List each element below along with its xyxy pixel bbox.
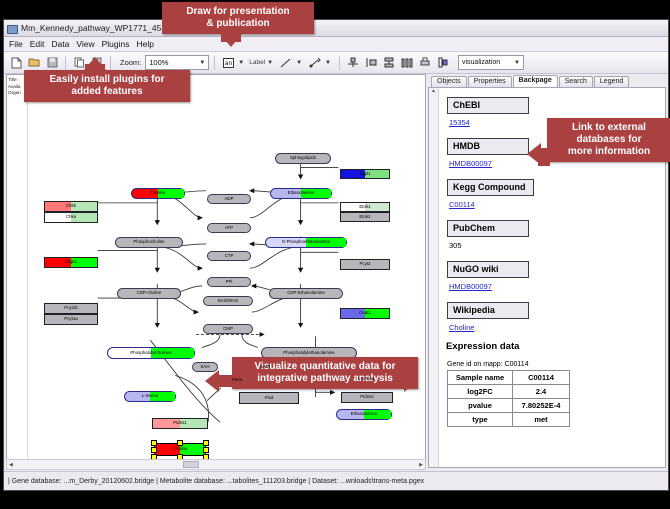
stack-left-icon[interactable] — [363, 55, 379, 71]
db-link-wikipedia[interactable]: Choline — [449, 323, 657, 332]
tab-backpage[interactable]: Backpage — [513, 75, 558, 87]
toolbar-separator — [110, 56, 111, 70]
node-adp[interactable]: ADP — [207, 194, 251, 204]
cell-value: 7.80252E-4 — [513, 399, 570, 413]
tab-legend[interactable]: Legend — [594, 76, 629, 87]
menu-item-view[interactable]: View — [76, 39, 94, 49]
node-phosphatidylcholines[interactable]: Phosphatidylcholines — [107, 347, 195, 359]
db-header-pubchem: PubChem — [447, 220, 529, 237]
chevron-down-icon[interactable]: ▼ — [296, 60, 305, 66]
cell-key: pvalue — [448, 399, 513, 413]
callout-draw: Draw for presentation & publication — [162, 2, 314, 34]
selection-handle[interactable] — [177, 440, 183, 446]
expression-table: Sample name C00114 log2FC 2.4 pvalue 7.8… — [447, 370, 570, 427]
node-label: SAH — [200, 365, 209, 369]
db-value-pubchem: 305 — [449, 241, 657, 250]
gene-id-line: Gene id on mapp: C00114 — [447, 361, 657, 368]
node-label: Phosphatidylcholines — [130, 351, 171, 355]
expression-data-heading: Expression data — [446, 341, 657, 352]
node-label: CDP-Ethanolamine — [287, 291, 325, 295]
zoom-combo[interactable]: 100% ▼ — [145, 55, 209, 70]
status-bar: | Gene database: ...m_Derby_20120602.bri… — [4, 471, 668, 490]
db-header-chebi: ChEBI — [447, 97, 529, 114]
node-label: O-Phosphoethanolamine — [282, 240, 331, 244]
node-cdp-choline[interactable]: CDP-choline — [117, 288, 181, 299]
node-ppi[interactable]: PPi — [207, 277, 251, 287]
node-phosphocholine[interactable]: Phosphocholine — [115, 237, 183, 248]
label-tool-label[interactable]: Label — [249, 59, 265, 66]
db-link-kegg-compound[interactable]: C00114 — [449, 200, 657, 209]
node-label: Pemt — [232, 378, 242, 382]
db-header-hmdb: HMDB — [447, 138, 529, 155]
node-label: Pisd — [265, 396, 274, 400]
gene-cept1[interactable]: Cept1 — [340, 308, 390, 319]
node-label: CTP — [225, 254, 234, 258]
cell-value: met — [513, 413, 570, 427]
callout-line-3: more information — [554, 146, 664, 158]
node-label: Ptdss2 — [360, 395, 373, 399]
node-label: Etnk1 — [359, 205, 370, 209]
node-label: Ethanolamine — [351, 412, 378, 416]
callout-line-2: added features — [31, 86, 183, 98]
gene-ptdss1[interactable]: Ptdss1 — [152, 418, 208, 429]
title-bar: Mm_Kennedy_pathway_WP1771_45176.gpml — [4, 20, 668, 37]
align-icon[interactable] — [345, 55, 361, 71]
node-label: CDP-choline — [137, 291, 162, 295]
node-label: Sphingolipids — [290, 156, 316, 160]
save-file-icon[interactable] — [44, 55, 60, 71]
node-label: L-Serine — [358, 377, 375, 381]
menu-item-plugins[interactable]: Plugins — [102, 39, 130, 49]
scroll-right-icon[interactable]: ▶ — [417, 462, 425, 468]
node-dag-mag[interactable]: DAG/MAG — [203, 296, 253, 306]
node-label: Phosphocholine — [133, 240, 164, 244]
callout-line-1: Easily install plugins for — [31, 74, 183, 86]
canvas-horizontal-scrollbar[interactable]: ◀ ▶ — [6, 459, 426, 470]
callout-plugins: Easily install plugins for added feature… — [24, 70, 190, 102]
panel-tabs: Objects Properties Backpage Search Legen… — [428, 74, 666, 87]
node-label: DAG/MAG — [218, 299, 239, 303]
callout-draw-stem — [221, 34, 241, 42]
chevron-down-icon[interactable]: ▼ — [238, 60, 247, 66]
zoom-value: 100% — [146, 58, 168, 67]
node-label: Etnk2 — [359, 215, 370, 219]
chevron-down-icon: ▼ — [199, 60, 208, 66]
stack-icon[interactable] — [381, 55, 397, 71]
gene-pcyt2[interactable]: Pcyt2 — [340, 259, 390, 270]
panel-scrollbar[interactable]: ▲ — [429, 88, 439, 467]
callout-visualize-arrow-right-icon — [404, 370, 418, 392]
cell-value: 2.4 — [513, 385, 570, 399]
gene-ptdss2[interactable]: Ptdss2 — [341, 392, 393, 403]
scrollbar-thumb[interactable] — [183, 461, 199, 468]
status-text: | Gene database: ...m_Derby_20120602.bri… — [8, 478, 424, 485]
callout-links-stem — [538, 148, 550, 166]
datanode-icon[interactable]: an — [220, 55, 236, 71]
table-row: log2FC 2.4 — [448, 385, 570, 399]
tab-search[interactable]: Search — [559, 76, 593, 87]
menu-item-data[interactable]: Data — [51, 39, 69, 49]
interaction-tool-icon[interactable] — [307, 55, 323, 71]
node-label: Chkb — [66, 204, 76, 208]
gene-etnk1[interactable]: Etnk1 — [340, 202, 390, 212]
gene-chkb[interactable]: Chkb — [44, 201, 98, 212]
new-file-icon[interactable] — [8, 55, 24, 71]
menu-item-file[interactable]: File — [9, 39, 23, 49]
selection-handle[interactable] — [203, 447, 209, 453]
columns-icon[interactable] — [399, 55, 415, 71]
node-label: PPi — [226, 280, 233, 284]
callout-line-1: Link to external — [554, 122, 664, 134]
node-ethanolamine-right[interactable]: Ethanolamine — [336, 409, 392, 420]
callout-plugins-stem — [85, 64, 105, 72]
node-label: Choline — [173, 447, 188, 451]
node-label: Ethanolamine — [288, 191, 315, 195]
node-label: L-Serine — [142, 394, 159, 398]
node-ethanolamine[interactable]: Ethanolamine — [270, 188, 332, 199]
line-tool-icon[interactable] — [278, 55, 294, 71]
db-link-nugo-wiki[interactable]: HMDB00097 — [449, 282, 657, 291]
db-header-nugo-wiki: NuGO wiki — [447, 261, 529, 278]
node-label: SAM — [260, 365, 270, 369]
selection-handle[interactable] — [151, 440, 157, 446]
pathway-canvas[interactable]: Title: Availa Organ — [6, 74, 426, 468]
node-label: CMP — [223, 327, 233, 331]
node-label: Cept1 — [359, 311, 371, 315]
db-header-wikipedia: Wikipedia — [447, 302, 529, 319]
node-label: Pcyt1b — [64, 306, 77, 310]
node-label: Choline — [151, 191, 166, 195]
node-choline[interactable]: Choline — [131, 188, 185, 199]
cell-value: C00114 — [513, 371, 570, 385]
callout-links: Link to external databases for more info… — [547, 118, 670, 162]
toolbar-separator — [214, 56, 215, 70]
node-label: ADP — [224, 197, 233, 201]
callout-line-1: Draw for presentation — [169, 6, 307, 18]
callout-line-2: & publication — [169, 18, 307, 30]
node-atp[interactable]: ATP — [207, 223, 251, 233]
node-label: Pcyt2 — [360, 262, 371, 266]
visualization-value: visualization — [459, 59, 500, 66]
chevron-down-icon: ▼ — [514, 60, 523, 66]
svg-text:an: an — [225, 60, 233, 67]
node-l-serine-left[interactable]: L-Serine — [124, 391, 176, 402]
node-label: Chpt1 — [65, 260, 77, 264]
print-icon[interactable] — [417, 55, 433, 71]
gene-etnk2[interactable]: Etnk2 — [340, 212, 390, 222]
gene-pisd[interactable]: Pisd — [239, 392, 299, 404]
node-sphingolipids[interactable]: Sphingolipids — [275, 153, 331, 164]
node-o-phosphoethanolamine[interactable]: O-Phosphoethanolamine — [265, 237, 347, 248]
node-ctp[interactable]: CTP — [207, 251, 251, 261]
visualization-combo[interactable]: visualization ▼ — [458, 55, 524, 70]
node-cmp[interactable]: CMP — [203, 324, 253, 334]
gene-chka[interactable]: Chka — [44, 212, 98, 223]
table-row: Sample name C00114 — [448, 371, 570, 385]
node-label: Chka — [66, 215, 76, 219]
gene-sgpl1[interactable]: Sgpl1 — [340, 169, 390, 179]
node-label: Ptdss1 — [173, 421, 186, 425]
selection-handle[interactable] — [203, 440, 209, 446]
cell-key: log2FC — [448, 385, 513, 399]
toolbar-separator — [65, 56, 66, 70]
node-label: Pcyt1a — [64, 317, 77, 321]
scroll-left-icon[interactable]: ◀ — [7, 462, 15, 468]
node-label: Sgpl1 — [359, 172, 370, 176]
gene-pcyt1b[interactable]: Pcyt1b — [44, 303, 98, 314]
chevron-down-icon[interactable]: ▼ — [267, 60, 276, 66]
gene-pcyt1a[interactable]: Pcyt1a — [44, 314, 98, 325]
zoom-label: Zoom: — [120, 58, 141, 67]
callout-visualize: Visualize quantitative data for integrat… — [232, 357, 418, 389]
node-label: ATP — [225, 226, 233, 230]
scroll-up-icon[interactable]: ▲ — [429, 88, 438, 94]
open-file-icon[interactable] — [26, 55, 42, 71]
db-header-kegg-compound: Kegg Compound — [447, 179, 534, 196]
tab-objects[interactable]: Objects — [431, 76, 467, 87]
gene-chpt1[interactable]: Chpt1 — [44, 257, 98, 268]
menu-bar: File Edit Data View Plugins Help — [4, 37, 668, 52]
callout-line-2: integrative pathway analysis — [239, 373, 411, 385]
chevron-down-icon[interactable]: ▼ — [325, 60, 334, 66]
callout-line-2: databases for — [554, 134, 664, 146]
menu-item-edit[interactable]: Edit — [30, 39, 45, 49]
toolbar-separator — [339, 56, 340, 70]
menu-item-help[interactable]: Help — [137, 39, 154, 49]
table-row: type met — [448, 413, 570, 427]
cell-key: type — [448, 413, 513, 427]
layer-icon[interactable] — [435, 55, 451, 71]
node-cdp-ethanolamine[interactable]: CDP-Ethanolamine — [269, 288, 343, 299]
node-label: Phosphatidylethanolamine — [283, 351, 335, 355]
application-icon — [7, 23, 17, 33]
tab-properties[interactable]: Properties — [468, 76, 512, 87]
table-row: pvalue 7.80252E-4 — [448, 399, 570, 413]
selection-handle[interactable] — [151, 447, 157, 453]
cell-key: Sample name — [448, 371, 513, 385]
